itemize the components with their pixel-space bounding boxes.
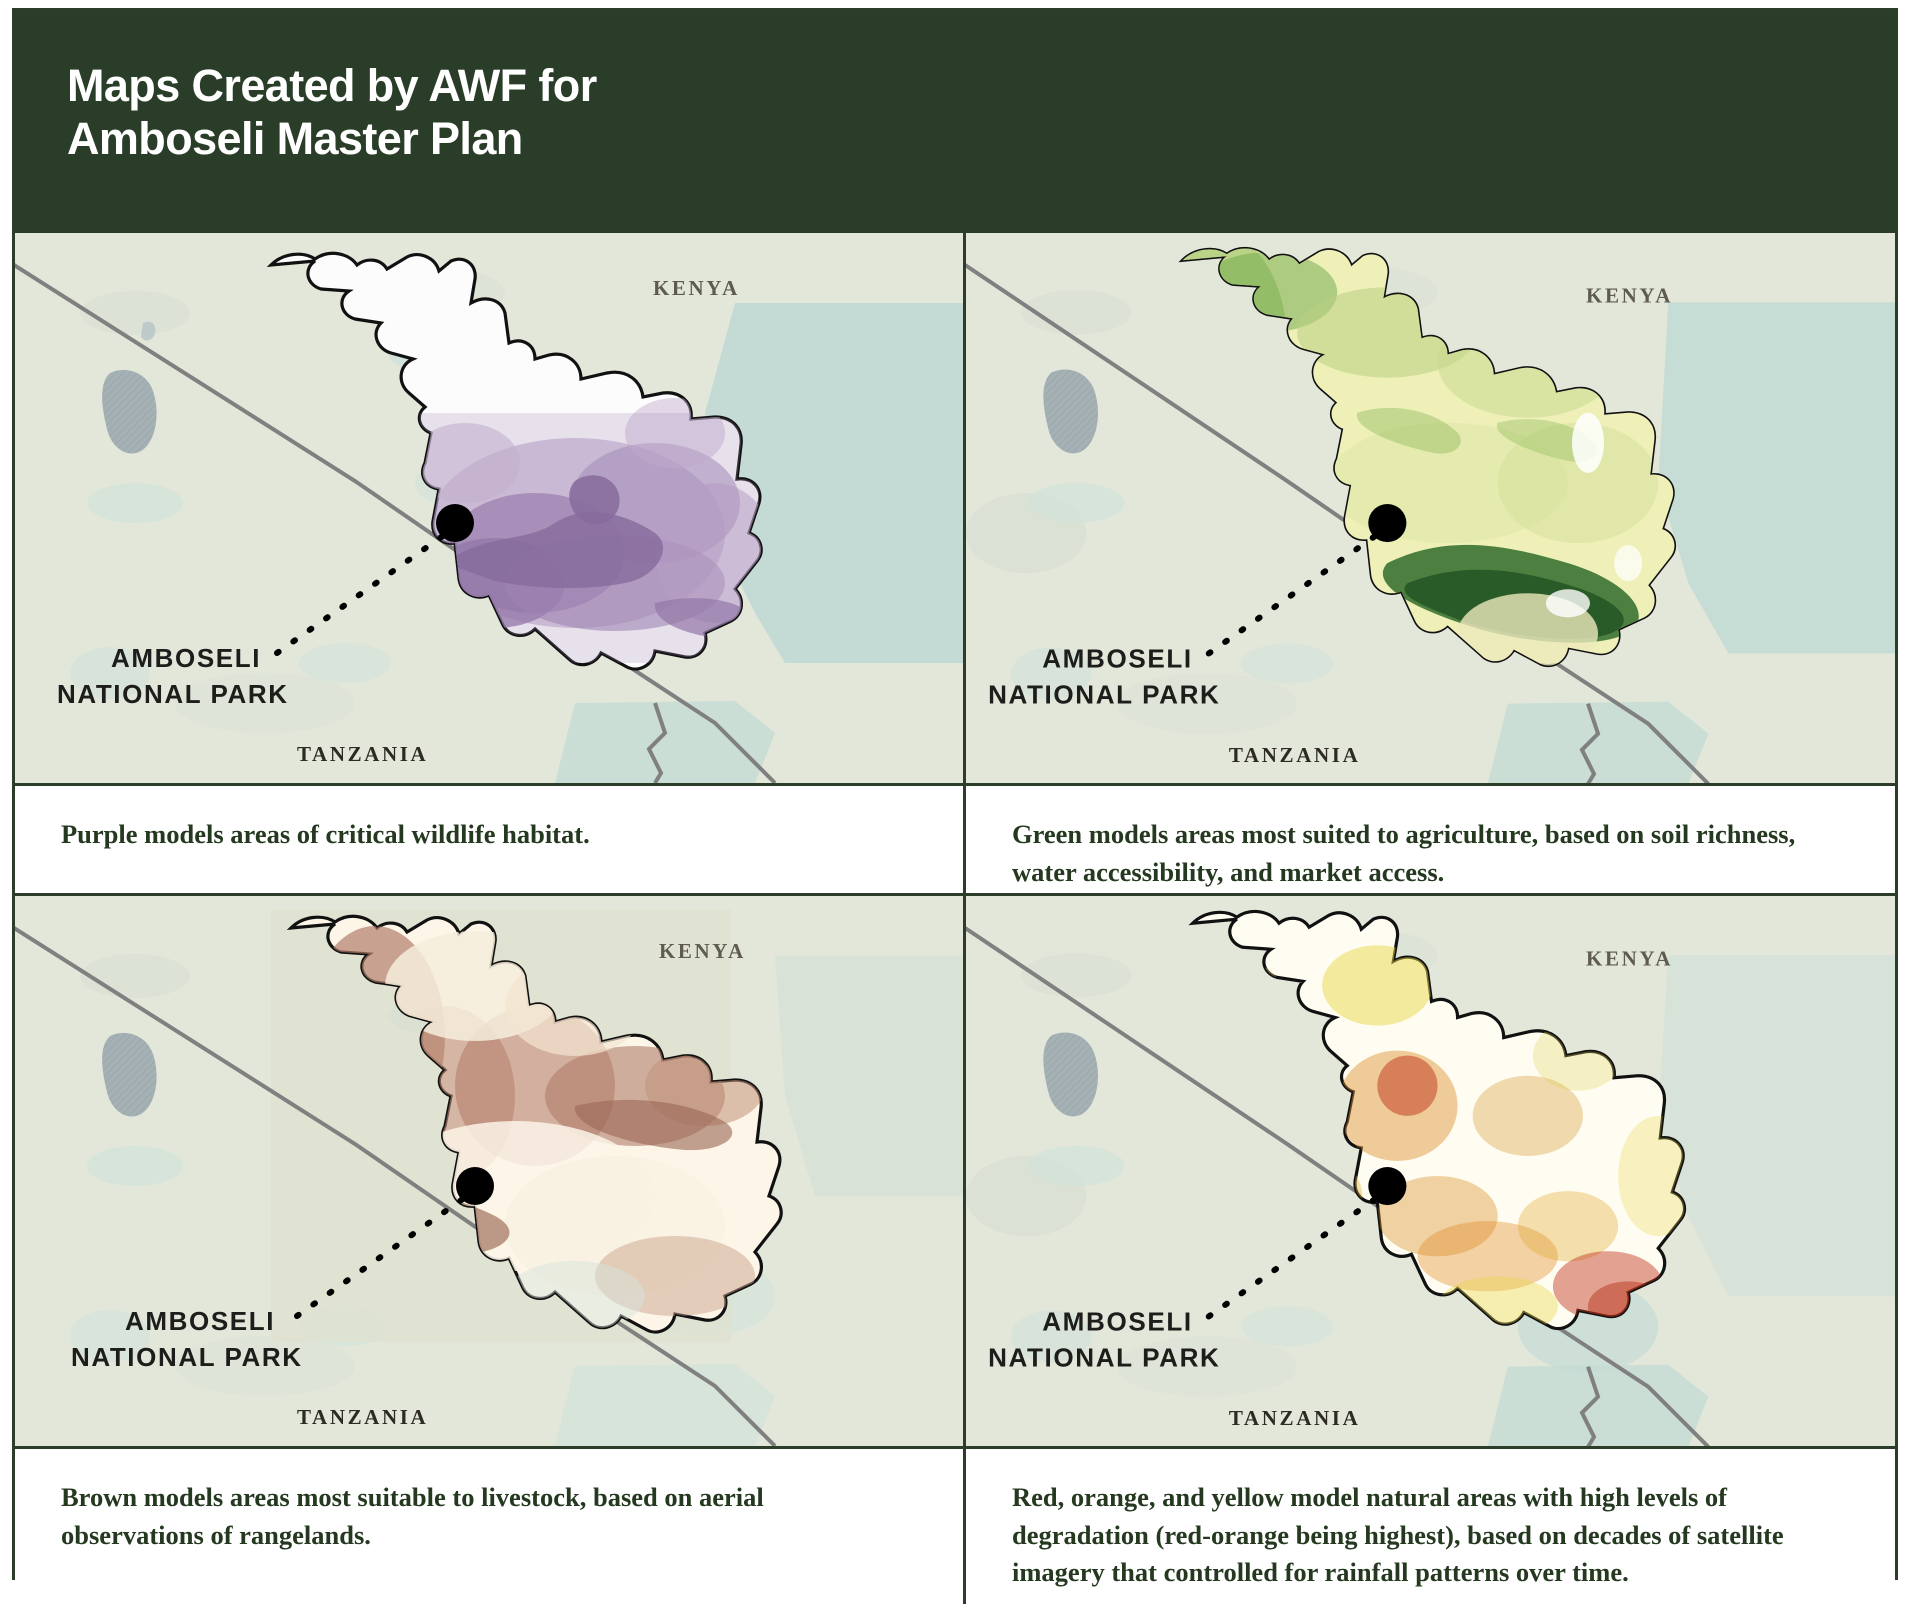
map-panel-land-degradation[interactable]: AMBOSELI NATIONAL PARK KENYA TANZANIA <box>966 896 1895 1449</box>
label-kenya: KENYA <box>1586 946 1673 970</box>
map-panel-livestock-suitability[interactable]: AMBOSELI NATIONAL PARK KENYA TANZANIA <box>15 896 966 1449</box>
label-park-line1: AMBOSELI <box>1042 1307 1192 1337</box>
caption-panel-land-degradation: Red, orange, and yellow model natural ar… <box>966 1449 1895 1604</box>
map-svg-purple: AMBOSELI NATIONAL PARK KENYA TANZANIA <box>15 233 963 783</box>
label-park-line2: NATIONAL PARK <box>71 1342 303 1372</box>
label-park-line2: NATIONAL PARK <box>57 679 289 709</box>
caption-text: Green models areas most suited to agricu… <box>1012 816 1832 891</box>
label-tanzania: TANZANIA <box>297 1405 428 1429</box>
label-kenya: KENYA <box>659 939 746 963</box>
header-banner: Maps Created by AWF for Amboseli Master … <box>15 11 1895 233</box>
caption-panel-agriculture-suitability: Green models areas most suited to agricu… <box>966 786 1895 896</box>
label-kenya: KENYA <box>653 276 740 300</box>
infographic-frame: Maps Created by AWF for Amboseli Master … <box>12 8 1898 1580</box>
caption-text: Red, orange, and yellow model natural ar… <box>1012 1479 1832 1592</box>
map-grid: AMBOSELI NATIONAL PARK KENYA TANZANIA <box>15 233 1895 1449</box>
label-park-line2: NATIONAL PARK <box>988 680 1220 710</box>
label-tanzania: TANZANIA <box>1229 1406 1361 1430</box>
caption-panel-critical-wildlife-habitat: Purple models areas of critical wildlife… <box>15 786 966 896</box>
label-tanzania: TANZANIA <box>297 742 428 766</box>
label-park-line1: AMBOSELI <box>111 643 261 673</box>
label-park-line1: AMBOSELI <box>1042 644 1192 674</box>
caption-panel-livestock-suitability: Brown models areas most suitable to live… <box>15 1449 966 1604</box>
page-title: Maps Created by AWF for Amboseli Master … <box>67 59 1895 165</box>
map-svg-green: AMBOSELI NATIONAL PARK KENYA TANZANIA <box>966 233 1895 783</box>
label-park-line1: AMBOSELI <box>125 1306 275 1336</box>
label-kenya: KENYA <box>1586 283 1673 307</box>
map-panel-critical-wildlife-habitat[interactable]: AMBOSELI NATIONAL PARK KENYA TANZANIA <box>15 233 966 786</box>
caption-text: Purple models areas of critical wildlife… <box>61 816 881 854</box>
label-park-line2: NATIONAL PARK <box>988 1343 1220 1373</box>
map-panel-agriculture-suitability[interactable]: AMBOSELI NATIONAL PARK KENYA TANZANIA <box>966 233 1895 786</box>
map-svg-brown: AMBOSELI NATIONAL PARK KENYA TANZANIA <box>15 896 963 1446</box>
caption-text: Brown models areas most suitable to live… <box>61 1479 881 1554</box>
label-tanzania: TANZANIA <box>1229 743 1361 767</box>
map-svg-degradation: AMBOSELI NATIONAL PARK KENYA TANZANIA <box>966 896 1895 1446</box>
